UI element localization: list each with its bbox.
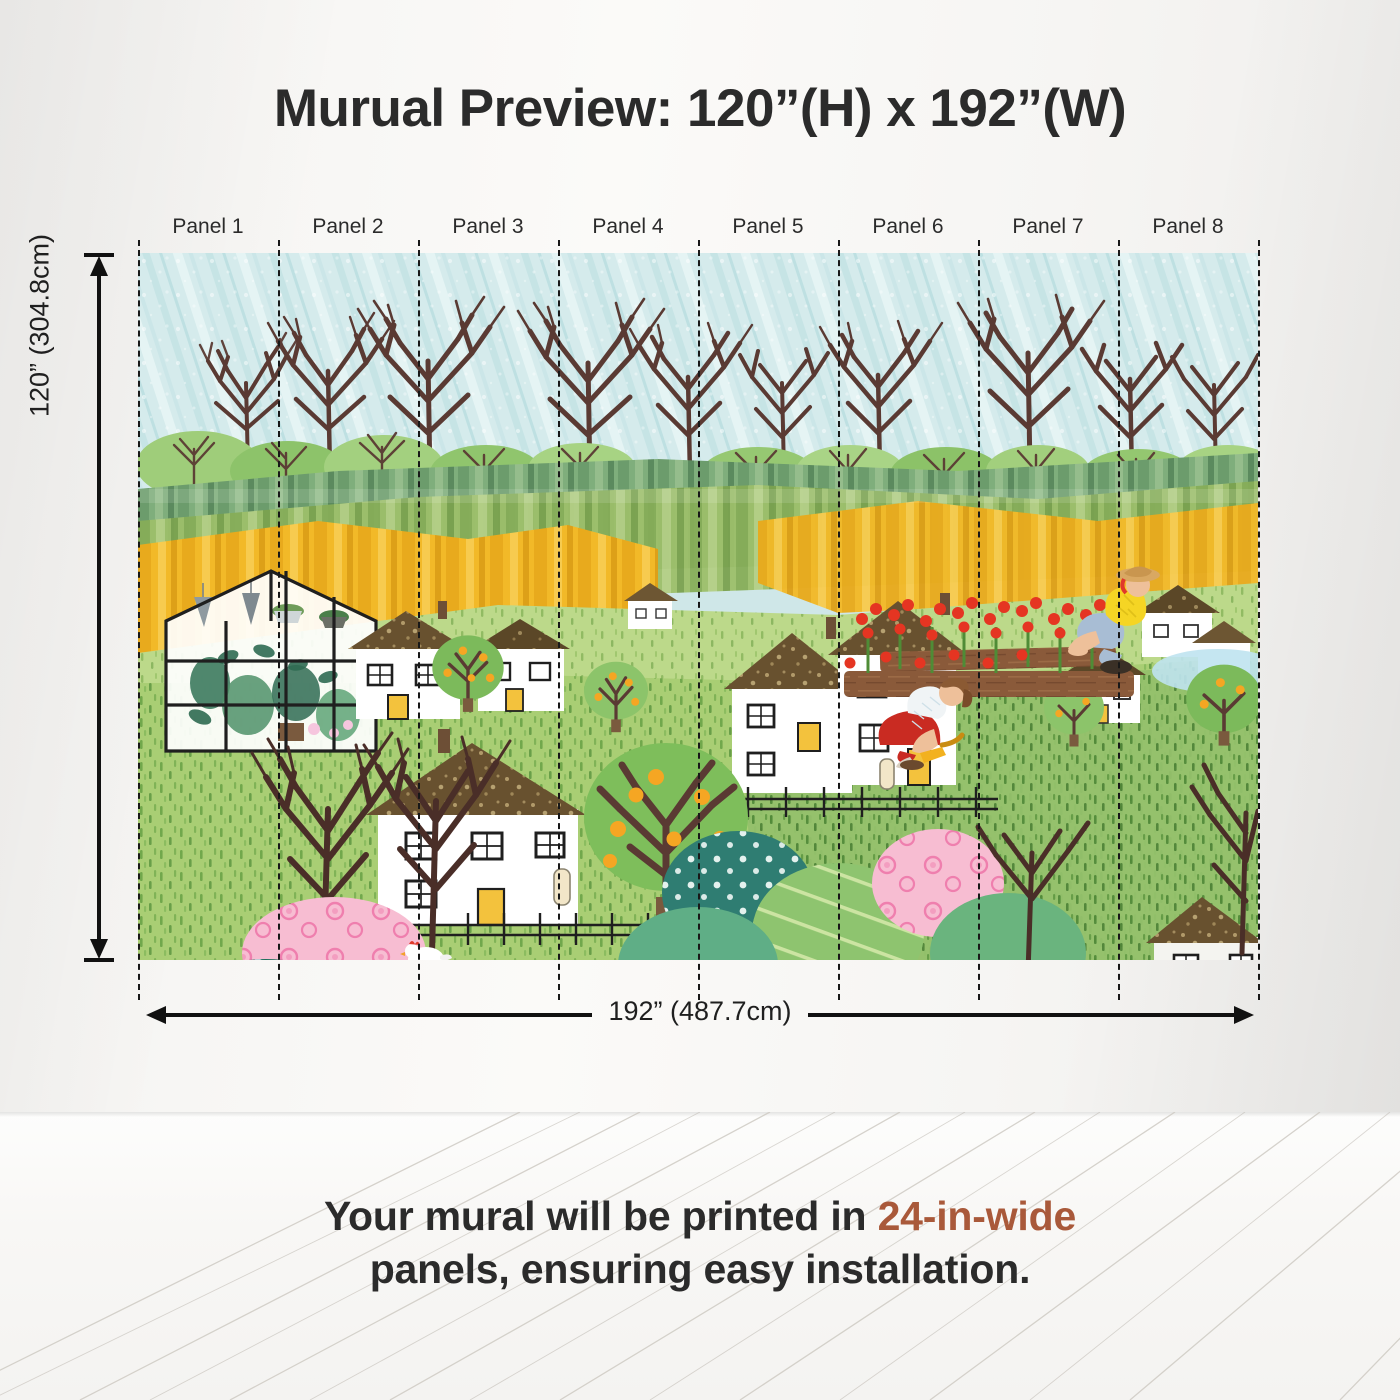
- caption-line-1: Your mural will be printed in 24-in-wide: [0, 1190, 1400, 1243]
- caption-accent-text: 24-in-wide: [878, 1193, 1076, 1239]
- width-dimension-label: 192” (487.7cm): [0, 996, 1400, 1027]
- panel-label-6: Panel 6: [838, 215, 978, 239]
- page-title: Murual Preview: 120”(H) x 192”(W): [0, 78, 1400, 139]
- height-dimension-arrow: [70, 250, 130, 965]
- panel-label-8: Panel 8: [1118, 215, 1258, 239]
- caption-line-2: panels, ensuring easy installation.: [0, 1243, 1400, 1296]
- height-dimension-label: 120” (304.8cm): [25, 176, 56, 476]
- panel-label-2: Panel 2: [278, 215, 418, 239]
- panel-labels-row: Panel 1 Panel 2 Panel 3 Panel 4 Panel 5 …: [138, 215, 1258, 247]
- panel-label-3: Panel 3: [418, 215, 558, 239]
- panel-label-7: Panel 7: [978, 215, 1118, 239]
- panel-label-1: Panel 1: [138, 215, 278, 239]
- panel-label-5: Panel 5: [698, 215, 838, 239]
- caption-block: Your mural will be printed in 24-in-wide…: [0, 1190, 1400, 1297]
- caption-line-1-prefix: Your mural will be printed in: [324, 1193, 878, 1239]
- mural-preview-image: [138, 253, 1258, 960]
- panel-label-4: Panel 4: [558, 215, 698, 239]
